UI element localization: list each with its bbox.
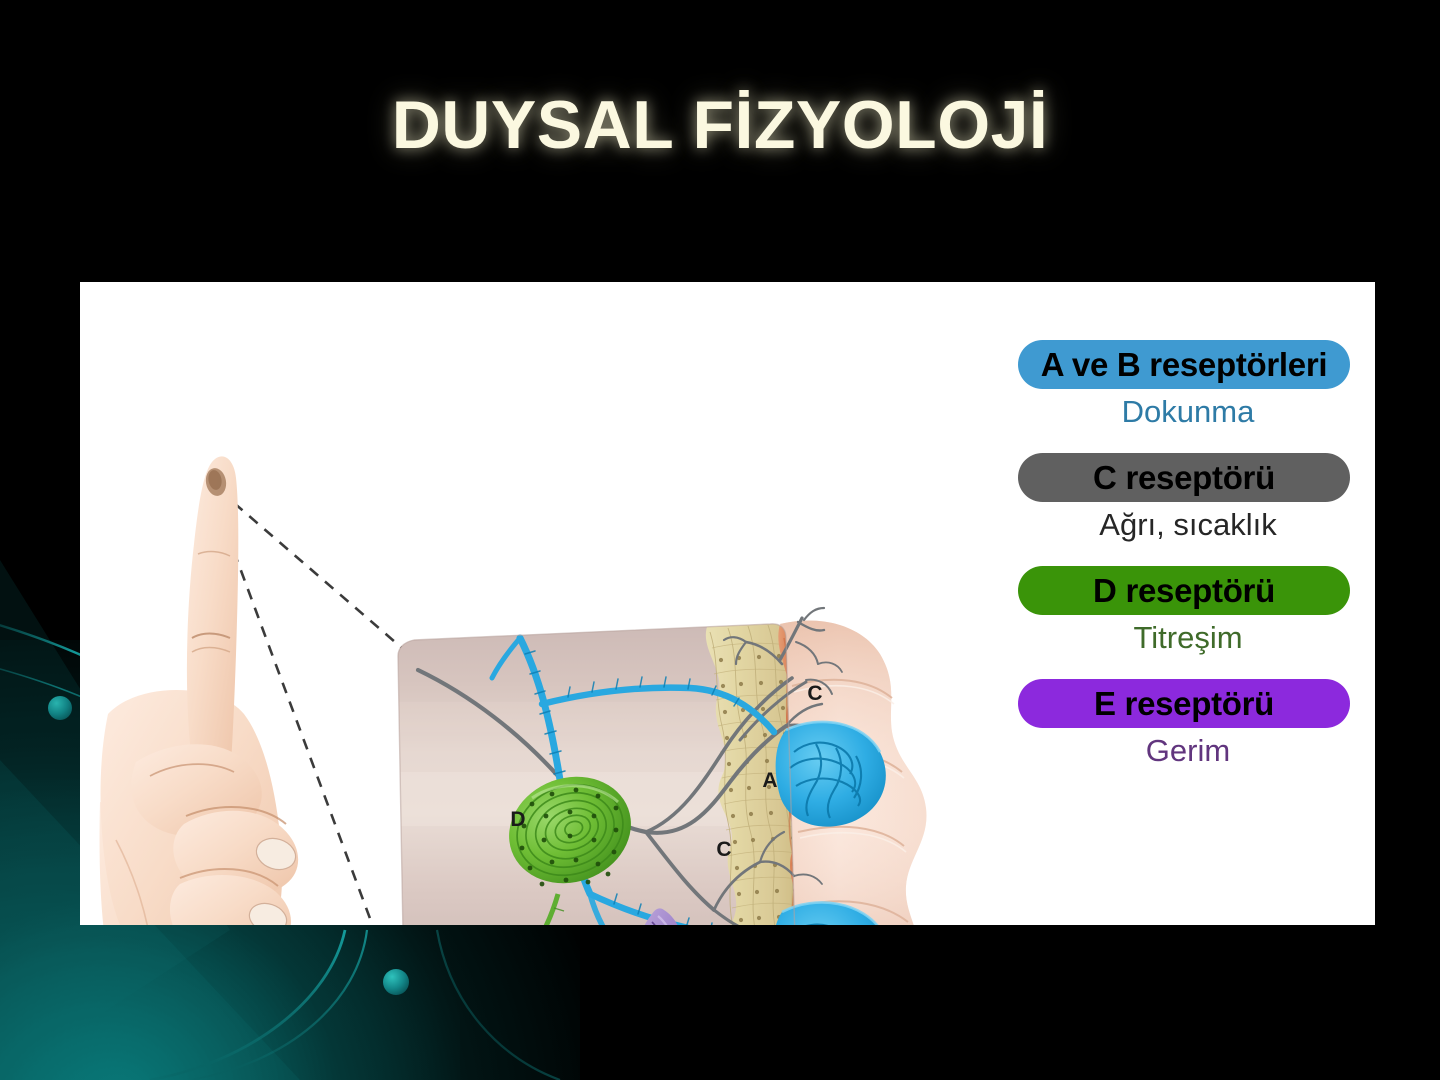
legend-group-d: D reseptörü Titreşim bbox=[1018, 566, 1358, 660]
legend-pill-c-receptor: C reseptörü bbox=[1018, 453, 1350, 502]
legend-pill-e-receptor: E reseptörü bbox=[1018, 679, 1350, 728]
skin-receptor-diagram: C A C D E A B bbox=[80, 282, 1018, 925]
slide-canvas: DUYSAL FİZYOLOJİ bbox=[0, 0, 1440, 1080]
legend-sub-e-receptor: Gerim bbox=[1018, 729, 1358, 773]
legend-group-e: E reseptörü Gerim bbox=[1018, 679, 1358, 773]
content-panel: C A C D E A B A ve B reseptörleri Dokunm… bbox=[80, 282, 1375, 925]
legend-group-ab: A ve B reseptörleri Dokunma bbox=[1018, 340, 1358, 434]
legend-pill-ab-receptors: A ve B reseptörleri bbox=[1018, 340, 1350, 389]
label-d: D bbox=[510, 808, 525, 831]
legend-sub-d-receptor: Titreşim bbox=[1018, 616, 1358, 660]
receptor-legend: A ve B reseptörleri Dokunma C reseptörü … bbox=[1018, 340, 1358, 792]
legend-group-c: C reseptörü Ağrı, sıcaklık bbox=[1018, 453, 1358, 547]
legend-sub-ab-receptors: Dokunma bbox=[1018, 390, 1358, 434]
label-a-upper: A bbox=[762, 769, 777, 792]
receptor-a-upper-meissner-corpuscle bbox=[776, 722, 886, 827]
hand-illustration bbox=[94, 456, 300, 925]
label-c-upper: C bbox=[807, 682, 822, 705]
legend-sub-c-receptor: Ağrı, sıcaklık bbox=[1018, 503, 1358, 547]
skin-block-cylinder: C A C D E A B bbox=[390, 608, 926, 925]
skin-cross-section-illustration: C A C D E A B bbox=[80, 282, 1018, 925]
label-c-lower: C bbox=[716, 838, 731, 861]
page-title: DUYSAL FİZYOLOJİ bbox=[0, 86, 1440, 164]
legend-pill-d-receptor: D reseptörü bbox=[1018, 566, 1350, 615]
